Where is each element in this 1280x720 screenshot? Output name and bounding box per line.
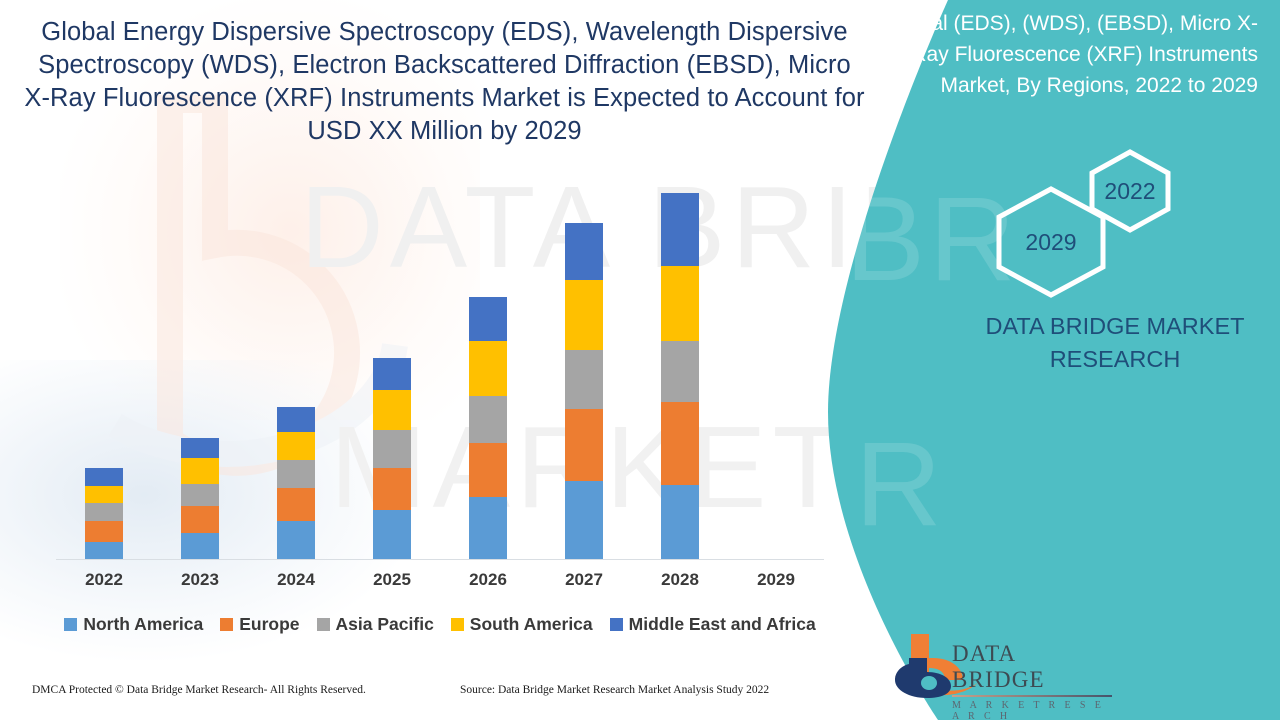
bar-segment xyxy=(565,223,603,280)
bar-column xyxy=(85,468,123,559)
bar-segment xyxy=(85,486,123,503)
legend-item[interactable]: Middle East and Africa xyxy=(610,614,816,635)
bar-segment xyxy=(181,533,219,559)
panel-title: Global (EDS), (WDS), (EBSD), Micro X-Ray… xyxy=(866,8,1258,101)
stacked-bar-chart xyxy=(56,160,824,560)
panel-brand-name: DATA BRIDGE MARKET RESEARCH xyxy=(960,310,1270,376)
bar-column xyxy=(181,438,219,559)
legend-item[interactable]: Asia Pacific xyxy=(317,614,434,635)
legend-swatch-icon xyxy=(451,618,464,631)
bar-segment xyxy=(661,341,699,403)
legend-label: Europe xyxy=(239,614,299,635)
legend-item[interactable]: South America xyxy=(451,614,593,635)
bar-segment xyxy=(277,407,315,432)
x-axis-label: 2029 xyxy=(738,570,814,590)
bar-segment xyxy=(85,542,123,559)
footer-source: Source: Data Bridge Market Research Mark… xyxy=(460,684,769,696)
bar-segment xyxy=(85,503,123,521)
bar-segment xyxy=(373,510,411,559)
bar-column xyxy=(661,193,699,559)
bar-segment xyxy=(469,297,507,341)
chart-bars xyxy=(56,160,824,559)
bar-segment xyxy=(469,497,507,559)
logo-divider xyxy=(952,695,1112,697)
bar-segment xyxy=(181,484,219,506)
bar-segment xyxy=(661,193,699,266)
legend-item[interactable]: North America xyxy=(64,614,203,635)
x-axis-label: 2022 xyxy=(66,570,142,590)
panel-brand-line2: RESEARCH xyxy=(960,343,1270,376)
bar-segment xyxy=(277,460,315,488)
page-title: Global Energy Dispersive Spectroscopy (E… xyxy=(22,16,867,148)
bar-column xyxy=(373,358,411,559)
logo-tagline: M A R K E T R E S E A R C H xyxy=(952,700,1112,720)
bar-segment xyxy=(661,266,699,341)
bar-segment xyxy=(565,350,603,410)
bar-segment xyxy=(277,432,315,460)
bar-segment xyxy=(373,390,411,430)
bar-segment xyxy=(661,485,699,559)
x-axis-label: 2025 xyxy=(354,570,430,590)
bar-segment xyxy=(373,468,411,510)
legend-item[interactable]: Europe xyxy=(220,614,299,635)
x-axis-label: 2027 xyxy=(546,570,622,590)
logo-name: DATA BRIDGE xyxy=(952,641,1112,693)
legend-swatch-icon xyxy=(317,618,330,631)
panel-brand-line1: DATA BRIDGE MARKET xyxy=(960,310,1270,343)
bar-segment xyxy=(565,409,603,481)
bar-segment xyxy=(565,280,603,350)
bar-segment xyxy=(469,341,507,397)
legend-label: North America xyxy=(83,614,203,635)
x-axis-labels: 20222023202420252026202720282029 xyxy=(56,570,824,596)
x-axis-label: 2024 xyxy=(258,570,334,590)
x-axis-label: 2026 xyxy=(450,570,526,590)
legend-swatch-icon xyxy=(610,618,623,631)
bar-segment xyxy=(565,481,603,559)
bar-segment xyxy=(181,458,219,484)
panel-watermark-2: R xyxy=(855,415,946,553)
bar-segment xyxy=(181,506,219,533)
bar-column xyxy=(469,297,507,559)
legend-swatch-icon xyxy=(64,618,77,631)
x-axis-label: 2023 xyxy=(162,570,238,590)
infographic-canvas: DATA BRIDGE MARKET RESEARCH Global Energ… xyxy=(0,0,1280,720)
bar-segment xyxy=(277,521,315,559)
legend-swatch-icon xyxy=(220,618,233,631)
bar-segment xyxy=(373,430,411,468)
x-axis-line xyxy=(56,559,824,560)
hexagon-start-year: 2022 xyxy=(1085,148,1175,234)
bar-column xyxy=(565,223,603,559)
bar-segment xyxy=(277,488,315,521)
bar-segment xyxy=(469,396,507,443)
bar-segment xyxy=(373,358,411,391)
footer-dmca: DMCA Protected © Data Bridge Market Rese… xyxy=(32,684,366,696)
data-bridge-logo-wordmark: DATA BRIDGE M A R K E T R E S E A R C H xyxy=(952,641,1112,720)
bar-segment xyxy=(661,402,699,485)
legend-label: Middle East and Africa xyxy=(629,614,816,635)
legend-label: South America xyxy=(470,614,593,635)
bar-column xyxy=(277,407,315,559)
hexagon-start-year-label: 2022 xyxy=(1085,148,1175,234)
x-axis-label: 2028 xyxy=(642,570,718,590)
legend-label: Asia Pacific xyxy=(336,614,434,635)
bar-segment xyxy=(181,438,219,458)
bar-segment xyxy=(469,443,507,497)
bar-segment xyxy=(85,468,123,486)
bar-segment xyxy=(85,521,123,542)
chart-legend: North AmericaEuropeAsia PacificSouth Ame… xyxy=(56,614,824,635)
